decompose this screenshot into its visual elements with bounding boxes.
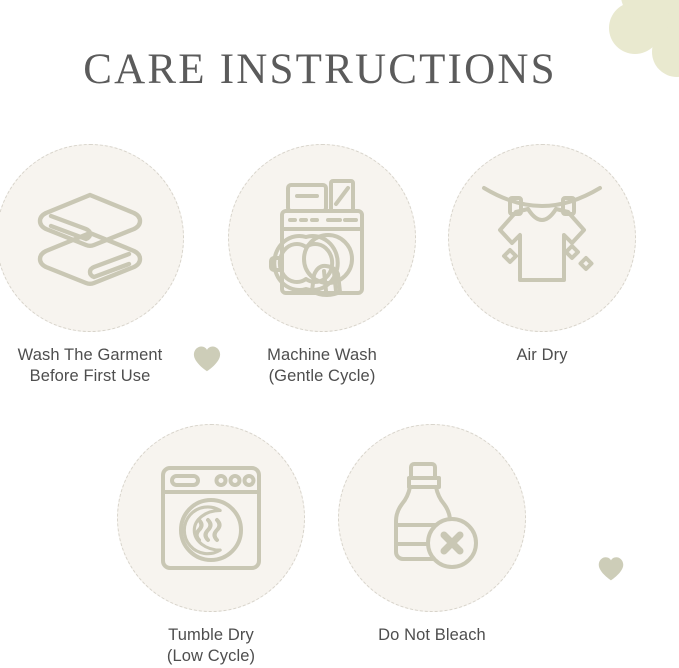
- caption-line-1: Air Dry: [516, 346, 567, 364]
- icon-circle: [117, 424, 305, 612]
- caption-line-1: Wash The Garment: [18, 346, 163, 364]
- heart-decoration-bottom-right: [597, 555, 625, 583]
- instruction-caption: Tumble Dry (Low Cycle): [117, 625, 305, 667]
- page-title: CARE INSTRUCTIONS: [0, 44, 640, 96]
- folded-laundry-icon: [34, 185, 146, 291]
- instruction-item-air-dry: Air Dry: [448, 144, 636, 366]
- instruction-item-wash-before-first-use: Wash The Garment Before First Use: [0, 144, 184, 387]
- icon-circle: [338, 424, 526, 612]
- instruction-item-do-not-bleach: Do Not Bleach: [338, 424, 526, 646]
- caption-line-2: (Low Cycle): [117, 646, 305, 667]
- washing-machine-icon: [266, 179, 378, 297]
- clothesline-tshirt-icon: [480, 182, 604, 294]
- instruction-item-tumble-dry: Tumble Dry (Low Cycle): [117, 424, 305, 667]
- icon-circle: [0, 144, 184, 332]
- caption-line-1: Tumble Dry: [168, 626, 254, 644]
- care-instructions-page: CARE INSTRUCTIONS Wash The Garment Befor…: [0, 0, 679, 668]
- icon-circle: [448, 144, 636, 332]
- instruction-caption: Do Not Bleach: [338, 625, 526, 646]
- caption-line-1: Machine Wash: [267, 346, 377, 364]
- instruction-caption: Wash The Garment Before First Use: [0, 345, 184, 387]
- instruction-caption: Air Dry: [448, 345, 636, 366]
- caption-line-2: (Gentle Cycle): [228, 366, 416, 387]
- heart-decoration-middle: [192, 344, 222, 374]
- instruction-caption: Machine Wash (Gentle Cycle): [228, 345, 416, 387]
- instruction-item-machine-wash: Machine Wash (Gentle Cycle): [228, 144, 416, 387]
- tumble-dryer-icon: [159, 464, 263, 572]
- caption-line-1: Do Not Bleach: [378, 626, 486, 644]
- no-bleach-bottle-icon: [380, 460, 484, 576]
- icon-circle: [228, 144, 416, 332]
- caption-line-2: Before First Use: [0, 366, 184, 387]
